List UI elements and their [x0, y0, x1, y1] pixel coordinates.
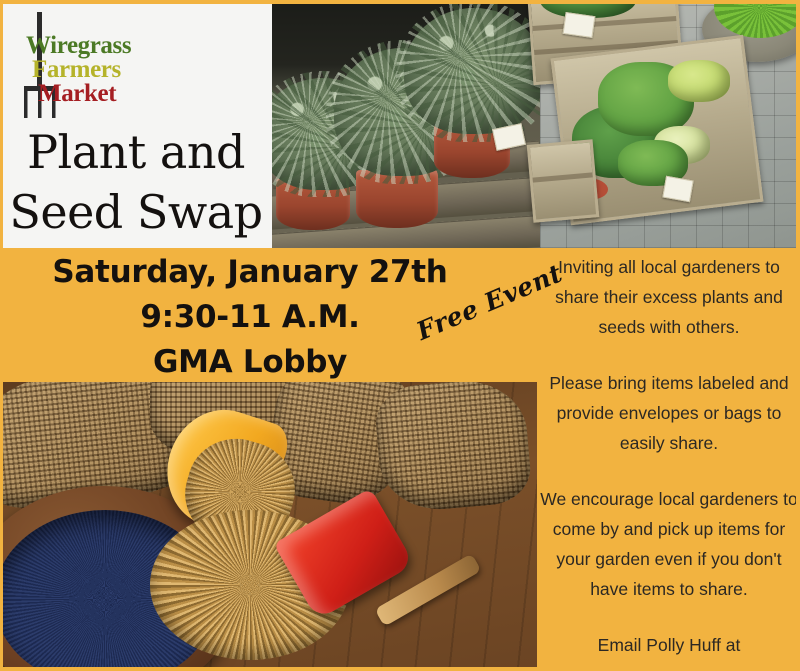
- wiregrass-farmers-market-logo: Wiregrass Farmers Market: [12, 12, 152, 120]
- title-panel: Wiregrass Farmers Market Plant and Seed …: [0, 0, 272, 248]
- flyer-poster: Wiregrass Farmers Market Plant and Seed …: [0, 0, 800, 671]
- title-line-1: Plant and: [0, 122, 272, 182]
- burlap-sack: [373, 382, 533, 514]
- logo-line-1: Wiregrass: [26, 34, 152, 58]
- body-paragraph-2: Please bring items labeled and provide e…: [538, 368, 800, 458]
- page-title: Plant and Seed Swap: [0, 122, 272, 242]
- logo-line-2: Farmers: [32, 58, 152, 82]
- event-location: GMA Lobby: [0, 340, 500, 385]
- frame-border-top: [0, 0, 800, 4]
- logo-wordmark: Wiregrass Farmers Market: [26, 34, 152, 106]
- price-tag: [662, 176, 693, 203]
- frame-border-bottom: [0, 667, 800, 671]
- logo-line-3: Market: [38, 82, 152, 106]
- body-paragraph-3: We encourage local gardeners to come by …: [538, 484, 800, 604]
- potted-plants-photo: [272, 0, 800, 248]
- frame-border-left: [0, 0, 3, 671]
- wooden-crate: [527, 139, 600, 222]
- moss-plant: [668, 60, 730, 102]
- body-paragraph-4: Email Polly Huff at phuff@abac.edu to re…: [538, 630, 800, 671]
- price-tag: [563, 12, 596, 38]
- title-line-2: Seed Swap: [0, 182, 272, 242]
- body-paragraph-1: Inviting all local gardeners to share th…: [538, 252, 800, 342]
- frame-border-right: [796, 0, 800, 671]
- event-date: Saturday, January 27th: [0, 250, 500, 295]
- seeds-photo: [0, 382, 537, 671]
- olive-plant: [404, 8, 544, 134]
- body-text-block: Inviting all local gardeners to share th…: [538, 252, 800, 671]
